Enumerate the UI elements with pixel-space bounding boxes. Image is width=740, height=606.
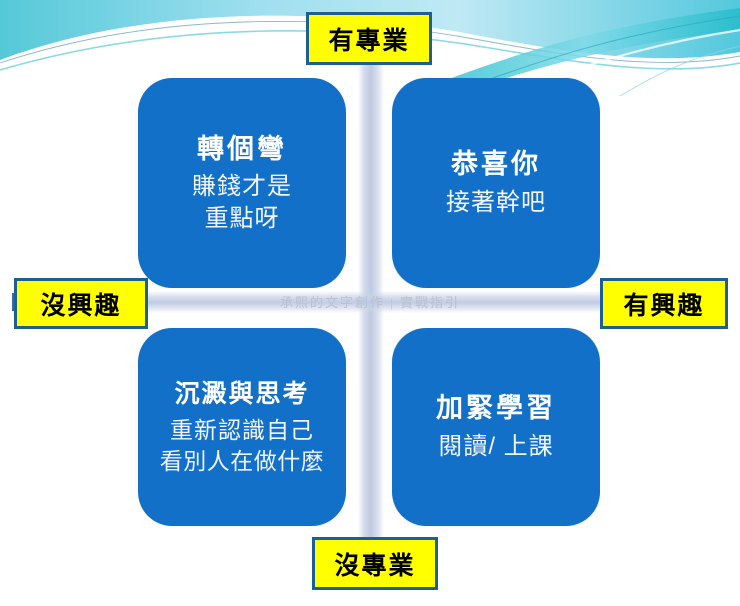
quadrant-top-right[interactable]: 恭喜你 接著幹吧 bbox=[392, 78, 600, 288]
quadrant-bottom-right[interactable]: 加緊學習 閱讀/ 上課 bbox=[392, 328, 600, 526]
axis-label-left[interactable]: 沒興趣 bbox=[14, 278, 148, 329]
axis-label-bottom[interactable]: 沒專業 bbox=[312, 537, 438, 590]
quadrant-top-left-title: 轉個彎 bbox=[197, 132, 287, 167]
quadrant-top-right-title: 恭喜你 bbox=[451, 147, 541, 182]
quadrant-top-left-line-2: 重點呀 bbox=[205, 203, 280, 235]
quadrant-top-right-line-1: 接著幹吧 bbox=[446, 187, 546, 219]
axis-label-right[interactable]: 有興趣 bbox=[600, 278, 728, 329]
matrix-diagram-canvas: 轉個彎 賺錢才是 重點呀 恭喜你 接著幹吧 沉澱與思考 重新認識自己 看別人在做… bbox=[0, 0, 740, 606]
quadrant-top-left[interactable]: 轉個彎 賺錢才是 重點呀 bbox=[138, 78, 346, 288]
axis-label-top[interactable]: 有專業 bbox=[306, 12, 432, 65]
quadrant-bottom-right-title: 加緊學習 bbox=[436, 391, 556, 426]
quadrant-bottom-right-line-1: 閱讀/ 上課 bbox=[438, 431, 553, 463]
quadrant-bottom-left-line-2: 看別人在做什麼 bbox=[160, 446, 325, 476]
quadrant-bottom-left-line-1: 重新認識自己 bbox=[170, 415, 314, 445]
quadrant-bottom-left[interactable]: 沉澱與思考 重新認識自己 看別人在做什麼 bbox=[138, 328, 346, 526]
quadrant-top-left-line-1: 賺錢才是 bbox=[192, 171, 292, 203]
quadrant-bottom-left-title: 沉澱與思考 bbox=[174, 378, 309, 410]
